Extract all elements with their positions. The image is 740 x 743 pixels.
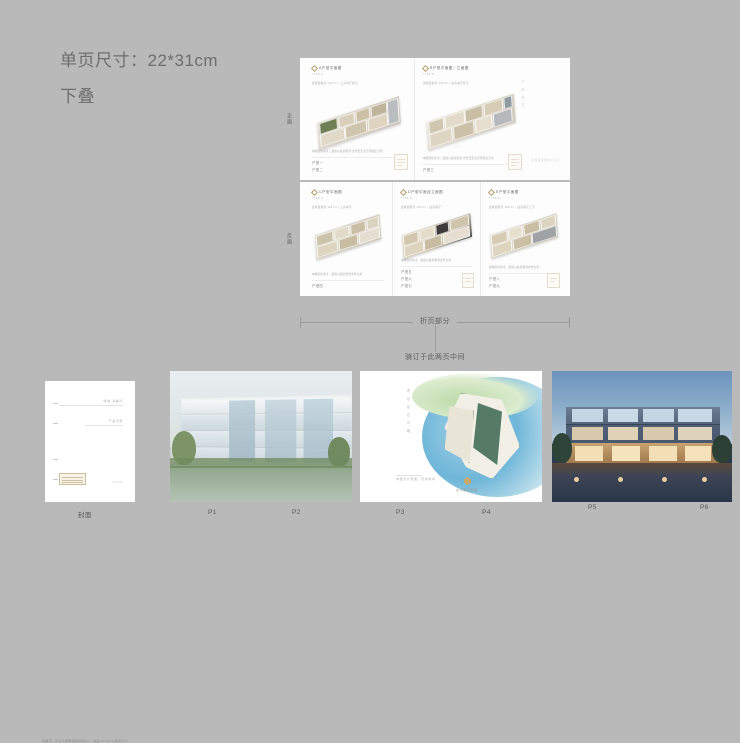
panel-front-stamp-text: 项目效果图仅供参考 <box>531 158 560 162</box>
night-water-reflection <box>552 463 732 502</box>
render-water <box>170 466 352 502</box>
siteplan-legend: 总平面示意图 <box>456 488 478 492</box>
spread-page-b: B户型平面图／立面图 TYPE B 建筑面积约 168 m² / 四房两厅两卫 <box>414 58 532 180</box>
floorplan-slab <box>317 96 401 150</box>
panel-side-label-front: 正面 <box>285 113 292 125</box>
page-d-header: D户型平面及立面图 TYPE D 建筑面积约 152 m² / 四房两厅 <box>401 190 472 210</box>
cover-annotation: 封面页：印白卡纸覆哑膜局部UV，成品 22*31cm单页尺寸 <box>42 739 128 743</box>
page-a-stamp <box>394 154 408 170</box>
binding-note: 骑订于此两页中间 <box>405 352 465 362</box>
title-line-fold: 下叠 <box>60 84 320 110</box>
floorplan-3d-a <box>316 100 402 146</box>
divider <box>312 157 406 158</box>
divider <box>401 266 472 267</box>
page-e-title: E户型平面图 <box>496 190 519 195</box>
page-b-stamp <box>508 154 522 170</box>
siteplan-note-rule <box>396 475 422 476</box>
page-c-subtitle: TYPE C <box>312 197 384 200</box>
page-c-footer: 本图仅供参考，最终以政府批准文件为准 户型四 <box>312 273 384 289</box>
page-d-subtitle: TYPE D <box>401 197 472 200</box>
thumbnail-cover[interactable]: 绿城·海棠湾 产品手册 LOGO <box>45 381 135 502</box>
floorplan-a-tag: ───── <box>334 146 341 148</box>
spread-page-e: E户型平面图 TYPE E 建筑面积约 189 m² / 四房两厅三卫 <box>480 182 566 296</box>
spread-panel-back: 反面 C户型平面图 TYPE C 建筑面积约 118 m² / 三房两厅 <box>300 182 570 296</box>
page-e-title-row: E户型平面图 <box>489 190 558 195</box>
thumbnail-spread-plan[interactable]: 项 目 区 位 鸟 瞰 本图为示意图，仅供参考 总平面示意图 <box>360 371 542 502</box>
panel-side-label-back: 反面 <box>285 233 292 245</box>
floorplan-3d-c <box>314 216 382 258</box>
page-e-description: 建筑面积约 189 m² / 四房两厅三卫 <box>489 206 558 210</box>
thumbnail-spread-day[interactable] <box>170 371 352 502</box>
night-foliage-right <box>712 435 732 463</box>
page-b-description: 建筑面积约 168 m² / 四房两厅两卫 <box>423 82 524 86</box>
caption-p1: P1 <box>208 509 217 516</box>
caption-p2: P2 <box>292 509 301 516</box>
page-title: 单页尺寸：22*31cm 下叠 <box>60 48 320 110</box>
page-c-description: 建筑面积约 118 m² / 三房两厅 <box>312 206 384 210</box>
floorplan-3d-b <box>425 98 517 146</box>
caption-p4: P4 <box>482 509 491 516</box>
diamond-bullet-icon <box>400 189 407 196</box>
floorplan-slab <box>426 93 515 150</box>
page-a-description: 建筑面积约 135 m² / 三房两厅两卫 <box>312 82 406 86</box>
page-a-footer: 本图仅供参考，最终以政府批准 文件及买卖合同约定为准 户型一 户型二 <box>312 150 406 173</box>
page-b-header: B户型平面图／立面图 TYPE B 建筑面积约 168 m² / 四房两厅两卫 <box>423 66 524 86</box>
divider <box>312 280 384 281</box>
cover-logo <box>59 473 86 485</box>
page-b-title-row: B户型平面图／立面图 <box>423 66 524 71</box>
page-thumbnails-row: 封面页：印白卡纸覆哑膜局部UV，成品 22*31cm单页尺寸 绿城·海棠湾 产品… <box>0 371 740 506</box>
page-c-footer-note: 本图仅供参考，最终以政府批准文件为准 <box>312 273 384 277</box>
cover-text-line-2: 产品手册 <box>109 419 123 423</box>
diamond-bullet-icon <box>422 65 429 72</box>
brochure-spread: 正面 A户型平面图 TYPE A 建筑面积约 135 m² / 三房两厅两卫 <box>300 58 570 296</box>
page-d-title: D户型平面及立面图 <box>408 190 443 195</box>
page-d-title-row: D户型平面及立面图 <box>401 190 472 195</box>
dimension-tick-left <box>300 317 301 328</box>
page-c-footer-item-1: 户型四 <box>312 284 384 289</box>
caption-p6: P6 <box>700 504 709 511</box>
cover-text-line-1: 绿城·海棠湾 <box>103 399 123 403</box>
dimension-tick-right <box>569 317 570 328</box>
spread-page-a: A户型平面图 TYPE A 建筑面积约 135 m² / 三房两厅两卫 <box>304 58 414 180</box>
caption-cover: 封面 <box>78 509 92 519</box>
page-a-subtitle: TYPE A <box>312 73 406 76</box>
diamond-bullet-icon <box>488 189 495 196</box>
floorplan-b-tag: ───── <box>453 146 460 148</box>
floorplan-3d-d <box>401 216 473 256</box>
page-d-footer-note: 本图仅供参考，最终以政府批准文件为准 <box>401 259 472 263</box>
night-building <box>566 407 720 463</box>
caption-p3: P3 <box>396 509 405 516</box>
page-a-footer-item-1: 户型一 <box>312 161 406 166</box>
siteplan-note: 本图为示意图，仅供参考 <box>396 477 436 481</box>
page-e-subtitle: TYPE E <box>489 197 558 200</box>
cover-logo-label: LOGO <box>112 480 123 484</box>
floorplan-3d-e <box>489 216 559 256</box>
page-c-title-row: C户型平面图 <box>312 190 384 195</box>
diamond-bullet-icon <box>311 189 318 196</box>
night-foliage-left <box>552 433 572 463</box>
thumbnail-spread-night[interactable] <box>552 371 732 502</box>
page-a-footer-item-2: 户型二 <box>312 168 406 173</box>
page-d-stamp <box>462 273 474 288</box>
panel-front-vertical-text: 户 型 鉴 赏 <box>519 80 526 109</box>
page-d-description: 建筑面积约 152 m² / 四房两厅 <box>401 206 472 210</box>
diamond-bullet-icon <box>311 65 318 72</box>
page-c-title: C户型平面图 <box>319 190 342 195</box>
binding-leader-line <box>435 322 436 352</box>
spread-page-d: D户型平面及立面图 TYPE D 建筑面积约 152 m² / 四房两厅 <box>392 182 480 296</box>
siteplan-vertical-text: 项 目 区 位 鸟 瞰 <box>404 389 411 435</box>
page-b-subtitle: TYPE B <box>423 73 524 76</box>
floorplan-slab <box>315 214 381 260</box>
title-line-size: 单页尺寸：22*31cm <box>60 48 320 74</box>
page-a-title-row: A户型平面图 <box>312 66 406 71</box>
page-a-footer-note: 本图仅供参考，最终以政府批准 文件及买卖合同约定为准 <box>312 150 406 154</box>
floorplan-slab <box>490 213 558 258</box>
spread-panel-front: 正面 A户型平面图 TYPE A 建筑面积约 135 m² / 三房两厅两卫 <box>300 58 570 180</box>
page-b-title: B户型平面图／立面图 <box>430 66 469 71</box>
spread-page-c: C户型平面图 TYPE C 建筑面积约 118 m² / 三房两厅 <box>304 182 392 296</box>
page-a-header: A户型平面图 TYPE A 建筑面积约 135 m² / 三房两厅两卫 <box>312 66 406 86</box>
caption-p5: P5 <box>588 504 597 511</box>
page-e-header: E户型平面图 TYPE E 建筑面积约 189 m² / 四房两厅三卫 <box>489 190 558 210</box>
page-c-header: C户型平面图 TYPE C 建筑面积约 118 m² / 三房两厅 <box>312 190 384 210</box>
floorplan-slab <box>402 213 472 259</box>
page-e-stamp <box>547 273 560 288</box>
screenshot-canvas: 单页尺寸：22*31cm 下叠 正面 A户型平面图 TYPE A 建筑面积约 1… <box>0 0 740 558</box>
page-e-footer-note: 本图仅供参考，最终以政府批准文件为准 <box>489 266 558 270</box>
render-building <box>181 395 351 467</box>
page-a-title: A户型平面图 <box>319 66 342 71</box>
